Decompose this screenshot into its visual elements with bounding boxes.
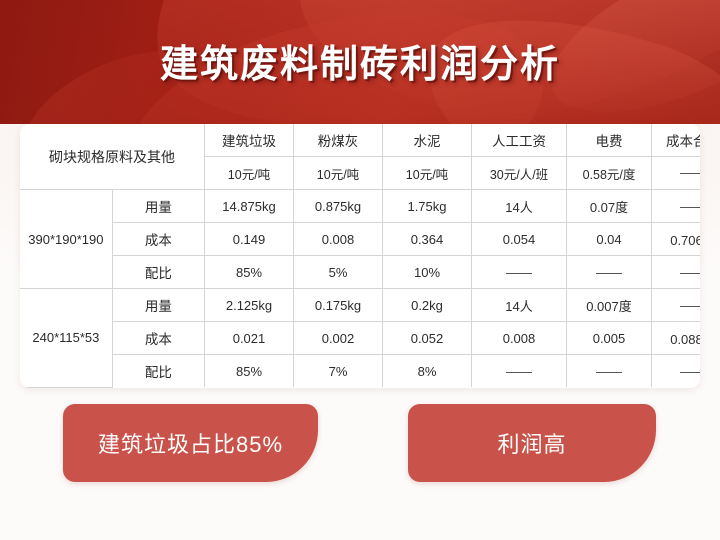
cell-0-1-0: 0.149 — [205, 223, 294, 256]
cell-1-2-0: 85% — [205, 355, 294, 388]
column-unit-labor-wage: 30元/人/班 — [472, 157, 567, 190]
badge-construction-waste-share: 建筑垃圾占比85% — [63, 404, 318, 482]
cell-1-2-1: 7% — [294, 355, 383, 388]
table-body: 砌块规格原料及其他 建筑垃圾 粉煤灰 水泥 人工工资 电费 成本合计 10元/吨… — [20, 124, 700, 387]
cell-1-1-5: 0.088元 — [652, 322, 701, 355]
cell-1-0-0: 2.125kg — [205, 289, 294, 322]
empty-value-dash-icon — [680, 306, 700, 307]
page-title: 建筑废料制砖利润分析 — [0, 42, 720, 88]
cell-0-2-3 — [472, 256, 567, 289]
empty-value-dash-icon — [506, 273, 532, 274]
cell-0-2-5 — [652, 256, 701, 289]
cell-0-1-2: 0.364 — [383, 223, 472, 256]
column-header-total-cost: 成本合计 — [652, 124, 701, 157]
cell-0-0-2: 1.75kg — [383, 190, 472, 223]
empty-value-dash-icon — [680, 173, 700, 174]
row-spec-label-0: 390*190*190 — [20, 190, 112, 289]
empty-value-dash-icon — [596, 273, 622, 274]
cell-1-2-3 — [472, 355, 567, 388]
table-header-row-names: 砌块规格原料及其他 建筑垃圾 粉煤灰 水泥 人工工资 电费 成本合计 — [20, 124, 700, 157]
column-unit-fly-ash: 10元/吨 — [294, 157, 383, 190]
cell-1-1-0: 0.021 — [205, 322, 294, 355]
cell-1-0-4: 0.007度 — [567, 289, 652, 322]
row-spec-label-1: 240*115*53 — [20, 289, 112, 388]
cell-0-1-5: 0.706元 — [652, 223, 701, 256]
cell-1-0-5 — [652, 289, 701, 322]
cell-0-2-4 — [567, 256, 652, 289]
infographic-page: 建筑废料制砖利润分析 砌块规格原料及其他 建筑垃圾 粉煤灰 水泥 人工工资 电费… — [0, 0, 720, 540]
row-metric-label-0-0: 用量 — [112, 190, 204, 223]
column-unit-total-cost — [652, 157, 701, 190]
cell-1-0-3: 14人 — [472, 289, 567, 322]
cell-0-2-1: 5% — [294, 256, 383, 289]
empty-value-dash-icon — [506, 372, 532, 373]
cell-0-1-3: 0.054 — [472, 223, 567, 256]
column-header-electricity: 电费 — [567, 124, 652, 157]
table-row: 390*190*190 用量 14.875kg 0.875kg 1.75kg 1… — [20, 190, 700, 223]
cell-0-1-1: 0.008 — [294, 223, 383, 256]
cell-0-0-3: 14人 — [472, 190, 567, 223]
column-header-construction-waste: 建筑垃圾 — [205, 124, 294, 157]
cell-0-2-0: 85% — [205, 256, 294, 289]
row-metric-label-1-2: 配比 — [112, 355, 204, 388]
cell-0-0-0: 14.875kg — [205, 190, 294, 223]
empty-value-dash-icon — [680, 273, 700, 274]
cell-1-0-2: 0.2kg — [383, 289, 472, 322]
row-metric-label-0-2: 配比 — [112, 256, 204, 289]
cost-analysis-table: 砌块规格原料及其他 建筑垃圾 粉煤灰 水泥 人工工资 电费 成本合计 10元/吨… — [20, 124, 700, 388]
table-corner-label: 砌块规格原料及其他 — [20, 124, 205, 190]
column-header-cement: 水泥 — [383, 124, 472, 157]
cell-0-0-5 — [652, 190, 701, 223]
table-row: 配比 85% 7% 8% — [20, 355, 700, 388]
column-unit-cement: 10元/吨 — [383, 157, 472, 190]
cell-0-2-2: 10% — [383, 256, 472, 289]
table-row: 240*115*53 用量 2.125kg 0.175kg 0.2kg 14人 … — [20, 289, 700, 322]
empty-value-dash-icon — [680, 372, 700, 373]
table-row: 成本 0.021 0.002 0.052 0.008 0.005 0.088元 — [20, 322, 700, 355]
cell-1-2-2: 8% — [383, 355, 472, 388]
row-metric-label-1-0: 用量 — [112, 289, 204, 322]
cell-1-1-4: 0.005 — [567, 322, 652, 355]
cell-1-0-1: 0.175kg — [294, 289, 383, 322]
highlight-badges: 建筑垃圾占比85% 利润高 — [0, 404, 720, 494]
row-metric-label-0-1: 成本 — [112, 223, 204, 256]
empty-value-dash-icon — [596, 372, 622, 373]
cell-1-2-4 — [567, 355, 652, 388]
cell-1-2-5 — [652, 355, 701, 388]
column-unit-electricity: 0.58元/度 — [567, 157, 652, 190]
column-header-labor-wage: 人工工资 — [472, 124, 567, 157]
cell-0-0-4: 0.07度 — [567, 190, 652, 223]
empty-value-dash-icon — [680, 207, 700, 208]
cell-1-1-3: 0.008 — [472, 322, 567, 355]
row-metric-label-1-1: 成本 — [112, 322, 204, 355]
cell-0-0-1: 0.875kg — [294, 190, 383, 223]
column-header-fly-ash: 粉煤灰 — [294, 124, 383, 157]
badge-high-profit: 利润高 — [408, 404, 656, 482]
table-row: 配比 85% 5% 10% — [20, 256, 700, 289]
column-unit-construction-waste: 10元/吨 — [205, 157, 294, 190]
cell-1-1-1: 0.002 — [294, 322, 383, 355]
cell-0-1-4: 0.04 — [567, 223, 652, 256]
cost-analysis-table-card: 砌块规格原料及其他 建筑垃圾 粉煤灰 水泥 人工工资 电费 成本合计 10元/吨… — [20, 124, 700, 388]
cell-1-1-2: 0.052 — [383, 322, 472, 355]
table-row: 成本 0.149 0.008 0.364 0.054 0.04 0.706元 — [20, 223, 700, 256]
